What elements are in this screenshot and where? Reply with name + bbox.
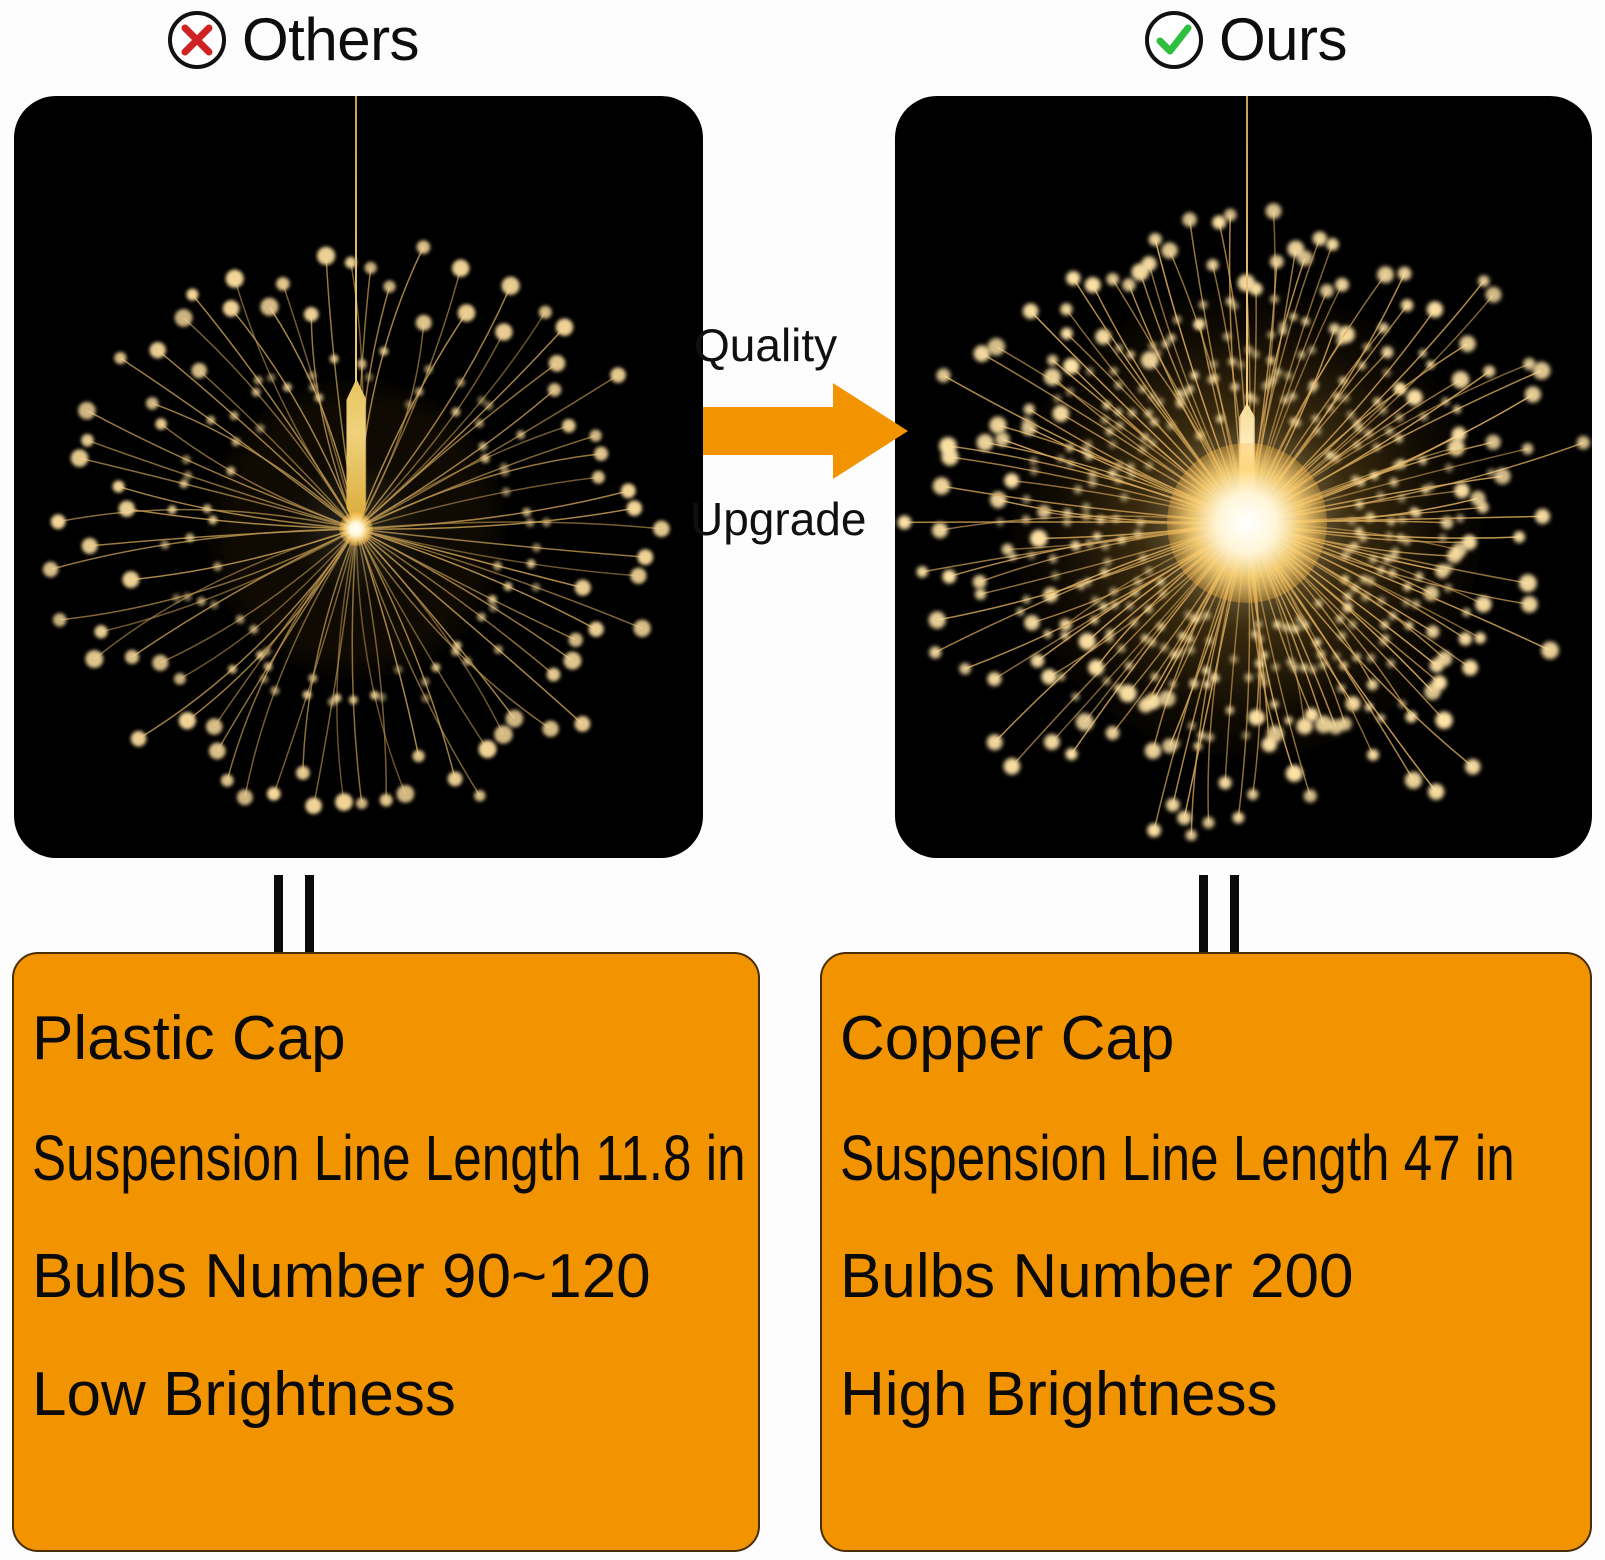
spec-line-cap: Plastic Cap [32,1008,758,1070]
spec-line-brightness: Low Brightness [32,1364,758,1426]
connector-left-bar-1 [274,875,283,953]
suspension-wire [355,96,357,385]
quality-label: Quality [694,322,837,368]
spec-line-brightness: High Brightness [840,1364,1590,1426]
ours-header-label: Ours [1219,10,1347,70]
ours-product-photo [895,96,1592,858]
connector-right-bar-2 [1230,875,1239,953]
firework-light-sparse [14,96,703,858]
copper-cap [1239,403,1255,523]
cross-circle-icon [168,11,226,69]
ours-header: Ours [1145,4,1347,76]
spec-line-bulbs: Bulbs Number 90~120 [32,1246,758,1308]
arrow-right-icon [703,380,908,482]
others-header-label: Others [242,10,419,70]
others-product-photo [14,96,703,858]
connector-right-bar-1 [1199,875,1208,953]
spec-line-length: Suspension Line Length 47 in [840,1126,1440,1190]
spec-line-bulbs: Bulbs Number 200 [840,1246,1590,1308]
upgrade-label: Upgrade [690,496,866,542]
suspension-wire [1246,96,1248,409]
others-spec-box: Plastic Cap Suspension Line Length 11.8 … [12,952,760,1552]
plastic-cap [346,379,366,529]
spec-line-cap: Copper Cap [840,1008,1590,1070]
ours-spec-box: Copper Cap Suspension Line Length 47 in … [820,952,1592,1552]
firework-light-dense [895,96,1592,858]
connector-left-bar-2 [305,875,314,953]
check-circle-icon [1145,11,1203,69]
others-header: Others [168,4,419,76]
spec-line-length: Suspension Line Length 11.8 in [32,1126,613,1190]
